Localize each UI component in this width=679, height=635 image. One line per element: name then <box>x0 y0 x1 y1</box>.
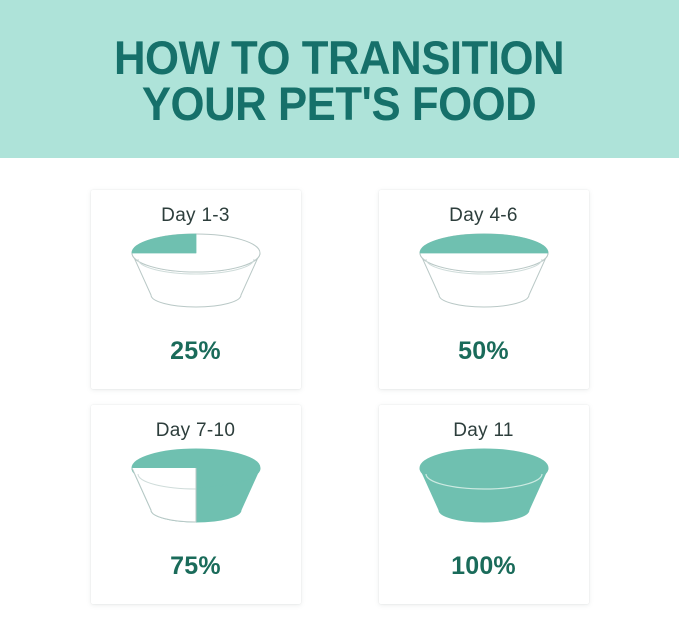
card-percent: 100% <box>451 554 516 579</box>
card-percent: 75% <box>170 554 221 579</box>
page-title-line-1: HOW TO TRANSITION <box>114 35 564 81</box>
bowl-illustration-50 <box>409 233 559 325</box>
bowl-icon <box>409 448 559 540</box>
transition-step-grid: Day 1-3 25% Day 4-6 50% Day 7-10 75% Day… <box>0 158 679 635</box>
bowl-illustration-75 <box>121 448 271 540</box>
bowl-illustration-100 <box>409 448 559 540</box>
transition-card-day-11[interactable]: Day 11 100% <box>379 405 589 604</box>
card-percent: 25% <box>170 339 221 364</box>
transition-card-day-1-3[interactable]: Day 1-3 25% <box>91 190 301 389</box>
bowl-icon <box>121 233 271 325</box>
card-percent: 50% <box>458 339 509 364</box>
page-title-line-2: YOUR PET'S FOOD <box>142 81 536 127</box>
bowl-illustration-25 <box>121 233 271 325</box>
card-title: Day 11 <box>453 421 514 440</box>
transition-card-day-7-10[interactable]: Day 7-10 75% <box>91 405 301 604</box>
card-title: Day 7-10 <box>156 421 236 440</box>
transition-card-day-4-6[interactable]: Day 4-6 50% <box>379 190 589 389</box>
card-title: Day 1-3 <box>161 206 230 225</box>
card-title: Day 4-6 <box>449 206 518 225</box>
header-banner: HOW TO TRANSITION YOUR PET'S FOOD <box>0 0 679 158</box>
bowl-icon <box>409 233 559 325</box>
bowl-icon <box>121 448 271 540</box>
